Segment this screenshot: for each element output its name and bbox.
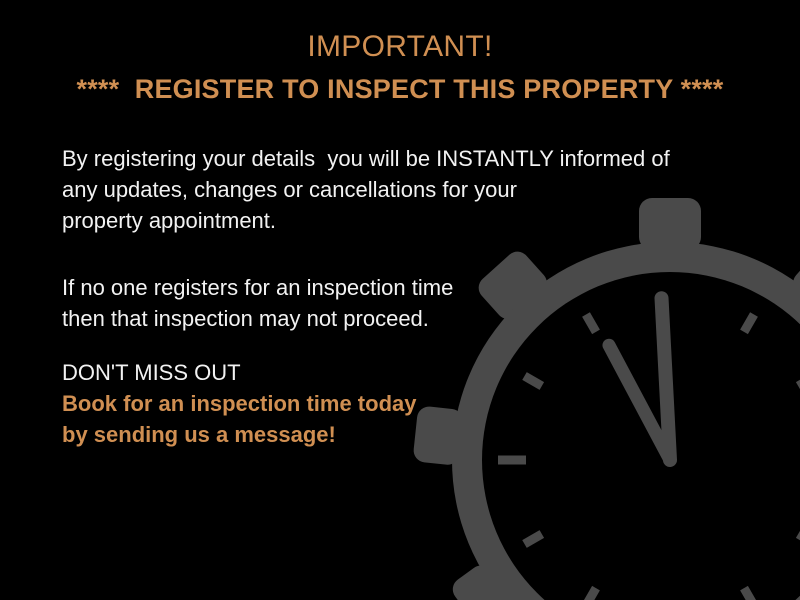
paragraph-call-to-action: DON'T MISS OUT Book for an inspection ti…	[62, 357, 722, 450]
paragraph-noshow-line-1: If no one registers for an inspection ti…	[62, 272, 722, 303]
promotional-slide: IMPORTANT! **** REGISTER TO INSPECT THIS…	[0, 0, 800, 600]
paragraph-updates-line-2: any updates, changes or cancellations fo…	[62, 174, 722, 205]
paragraph-updates-line-1: By registering your details you will be …	[62, 143, 722, 174]
headline-register-cta: **** REGISTER TO INSPECT THIS PROPERTY *…	[0, 70, 800, 108]
headline-important: IMPORTANT!	[0, 28, 800, 66]
headline-block: IMPORTANT! **** REGISTER TO INSPECT THIS…	[0, 28, 800, 108]
paragraph-updates-line-3: property appointment.	[62, 205, 722, 236]
paragraph-noshow-line-2: then that inspection may not proceed.	[62, 303, 722, 334]
cta-send-message: by sending us a message!	[62, 419, 722, 450]
cta-book-inspection: Book for an inspection time today	[62, 388, 722, 419]
cta-dont-miss-out: DON'T MISS OUT	[62, 357, 722, 388]
paragraph-noshow: If no one registers for an inspection ti…	[62, 272, 722, 334]
slide-content: IMPORTANT! **** REGISTER TO INSPECT THIS…	[0, 0, 800, 600]
paragraph-updates: By registering your details you will be …	[62, 143, 722, 236]
